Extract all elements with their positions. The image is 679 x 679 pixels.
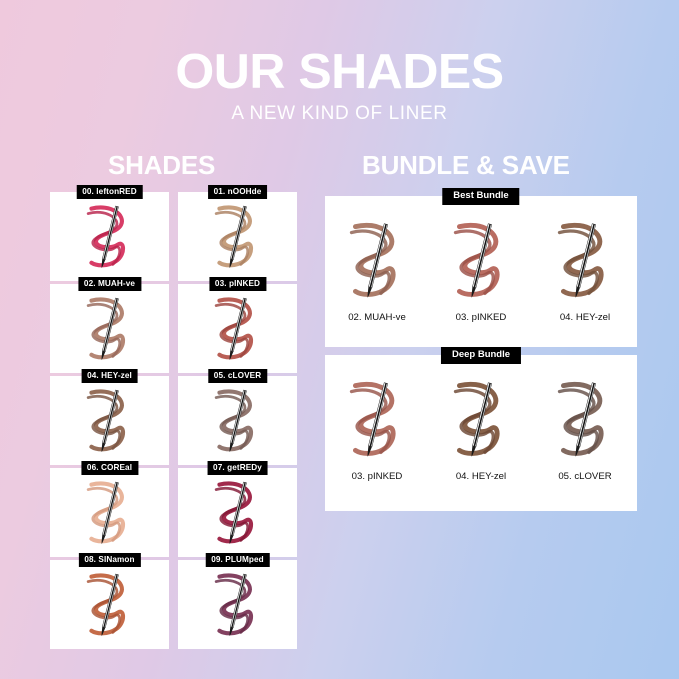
liner-swatch-stroke-icon [50,560,169,649]
page-header: OUR SHADES A NEW KIND OF LINER [0,48,679,123]
liner-swatch-stroke-icon [178,468,297,557]
bundle-item-label: 05. cLOVER [536,472,634,482]
liner-swatch-stroke-icon [50,192,169,281]
shade-card[interactable]: 04. HEY-zel [50,376,169,465]
shade-card[interactable]: 03. pINKED [178,284,297,373]
shade-swatch [50,192,169,281]
shade-label-badge: 09. PLUMped [205,553,270,567]
shade-swatch [178,284,297,373]
liner-swatch-stroke-icon [178,192,297,281]
bundle-item-label: 03. pINKED [328,472,426,482]
bundles-container: Best Bundle02. MUAH-ve03. pINKED04. HEY-… [325,196,637,511]
liner-swatch-stroke-icon [432,369,530,469]
shade-label-badge: 04. HEY-zel [81,369,138,383]
shade-label-badge: 02. MUAH-ve [78,277,141,291]
shade-swatch [178,192,297,281]
shade-label-badge: 05. cLOVER [208,369,267,383]
liner-swatch-stroke-icon [536,369,634,469]
shade-card[interactable]: 06. COREal [50,468,169,557]
shade-label-badge: 08. SINamon [78,553,140,567]
shade-label-badge: 03. pINKED [209,277,266,291]
shade-card[interactable]: 05. cLOVER [178,376,297,465]
shade-label-badge: 00. leftonRED [76,185,143,199]
liner-swatch-stroke-icon [178,560,297,649]
liner-swatch-stroke-icon [178,376,297,465]
shade-label-badge: 01. nOOHde [208,185,268,199]
bundle-panel[interactable]: Deep Bundle03. pINKED04. HEY-zel05. cLOV… [325,355,637,511]
liner-swatch-stroke-icon [178,284,297,373]
bundle-item[interactable]: 04. HEY-zel [432,369,530,482]
bundle-item-label: 04. HEY-zel [536,313,634,323]
bundle-items-row: 02. MUAH-ve03. pINKED04. HEY-zel [325,210,637,323]
shades-section-heading: SHADES [108,152,215,178]
shade-swatch [50,560,169,649]
liner-swatch-stroke-icon [536,210,634,310]
bundle-name-badge: Deep Bundle [441,347,521,364]
bundle-panel[interactable]: Best Bundle02. MUAH-ve03. pINKED04. HEY-… [325,196,637,347]
bundle-item[interactable]: 02. MUAH-ve [328,210,426,323]
bundle-section-heading: BUNDLE & SAVE [362,152,570,178]
shade-card[interactable]: 01. nOOHde [178,192,297,281]
shade-card[interactable]: 07. getREDy [178,468,297,557]
bundle-item[interactable]: 03. pINKED [328,369,426,482]
liner-swatch-stroke-icon [50,376,169,465]
bundle-items-row: 03. pINKED04. HEY-zel05. cLOVER [325,369,637,482]
shade-swatch [178,376,297,465]
shade-card[interactable]: 00. leftonRED [50,192,169,281]
shade-label-badge: 06. COREal [81,461,138,475]
bundle-item[interactable]: 04. HEY-zel [536,210,634,323]
page-title: OUR SHADES [0,48,679,97]
bundle-item[interactable]: 03. pINKED [432,210,530,323]
liner-swatch-stroke-icon [432,210,530,310]
bundle-item-label: 03. pINKED [432,313,530,323]
page-subtitle: A NEW KIND OF LINER [0,104,679,123]
shade-swatch [50,376,169,465]
liner-swatch-stroke-icon [328,210,426,310]
bundle-item-label: 02. MUAH-ve [328,313,426,323]
shade-label-badge: 07. getREDy [207,461,268,475]
shade-swatch [178,560,297,649]
bundle-name-badge: Best Bundle [442,188,519,205]
bundle-item-label: 04. HEY-zel [432,472,530,482]
shade-card[interactable]: 08. SINamon [50,560,169,649]
shade-swatch [50,284,169,373]
shade-swatch [178,468,297,557]
shade-card[interactable]: 09. PLUMped [178,560,297,649]
shade-swatch [50,468,169,557]
shades-grid: 00. leftonRED01. nOOHde02. MUAH-ve03. pI… [50,192,297,649]
liner-swatch-stroke-icon [328,369,426,469]
liner-swatch-stroke-icon [50,284,169,373]
liner-swatch-stroke-icon [50,468,169,557]
shade-card[interactable]: 02. MUAH-ve [50,284,169,373]
bundle-item[interactable]: 05. cLOVER [536,369,634,482]
